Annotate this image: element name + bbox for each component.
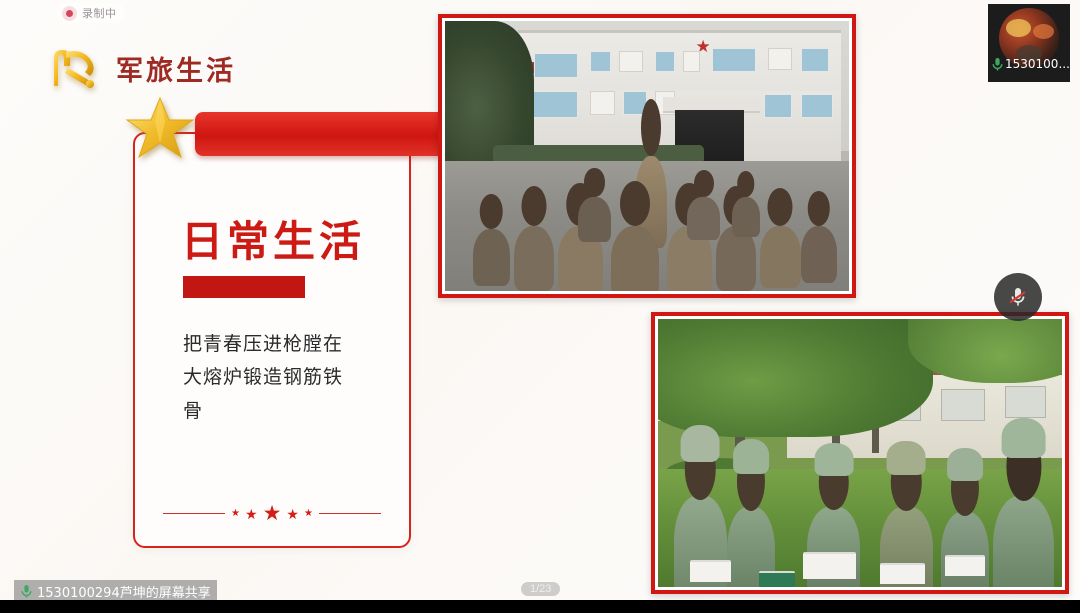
photo-soldiers-briefing: ★ (438, 14, 856, 298)
footer-star: ★ (231, 509, 240, 519)
footer-rule-right (319, 513, 381, 515)
card-paragraph: 把青春压进枪膛在大熔炉锻造钢筋铁骨 (183, 328, 361, 428)
mute-button[interactable] (994, 273, 1042, 321)
footer-rule-left (163, 513, 225, 515)
microphone-icon (991, 57, 1004, 72)
bottom-black-bar (0, 600, 1080, 613)
card-footer-decoration: ★ ★ ★ ★ ★ (135, 503, 409, 524)
share-owner-text: 1530100294芦坤的屏幕共享 (37, 582, 211, 601)
meeting-screen: 录制中 军旅生活 (0, 0, 1080, 613)
footer-star: ★ (245, 507, 258, 521)
slide-header: 军旅生活 (44, 42, 236, 94)
daily-life-card: 日常生活 把青春压进枪膛在大熔炉锻造钢筋铁骨 ★ ★ ★ ★ ★ (133, 132, 411, 548)
shared-slide: 录制中 军旅生活 (0, 0, 1080, 600)
photo-soldiers-reading (651, 312, 1069, 594)
recording-indicator: 录制中 (58, 3, 125, 23)
footer-star: ★ (304, 509, 313, 519)
microphone-icon (20, 584, 33, 599)
participant-label: 1530100... (988, 54, 1070, 74)
page-title: 军旅生活 (116, 49, 236, 88)
footer-stars: ★ ★ ★ ★ ★ (231, 503, 313, 524)
screen-share-label: 1530100294芦坤的屏幕共享 (14, 580, 217, 600)
card-heading: 日常生活 (181, 220, 381, 264)
recording-label: 录制中 (82, 5, 117, 21)
footer-star: ★ (263, 503, 282, 524)
page-indicator: 1/23 (521, 582, 560, 596)
microphone-muted-icon (1005, 284, 1031, 310)
card-heading-underline (183, 276, 305, 298)
party-emblem-icon (44, 42, 100, 94)
participant-thumbnail[interactable]: 1530100... (988, 4, 1070, 82)
participant-name: 1530100... (1005, 57, 1070, 71)
record-dot-icon (62, 6, 77, 21)
footer-star: ★ (286, 507, 299, 521)
